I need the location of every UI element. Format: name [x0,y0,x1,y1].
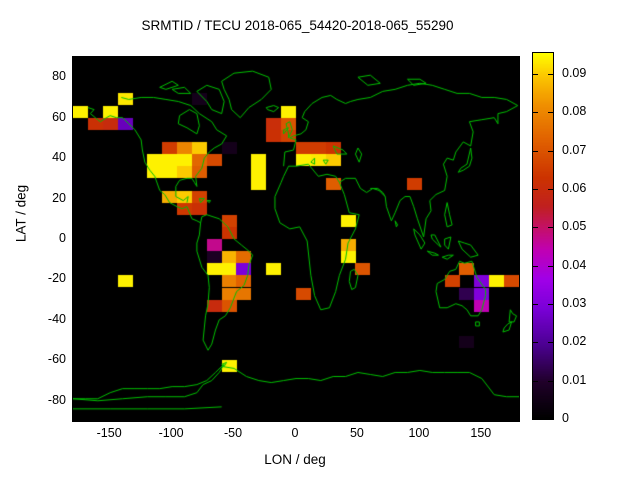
colorbar-tick-label: 0.06 [562,182,622,194]
colorbar-tick-label: 0.08 [562,105,622,117]
x-axis-label: LON / deg [72,452,518,467]
colorbar-tick-label: 0.01 [562,374,622,386]
colorbar-tick-label: 0.09 [562,67,622,79]
x-tick-label: 50 [322,426,392,440]
x-axis-ticks: -150-100-50050100150 [72,426,518,446]
x-tick-label: 100 [384,426,454,440]
colorbar-tick-label: 0 [562,412,622,424]
colorbar-tick-label: 0.03 [562,297,622,309]
x-tick-label: -50 [198,426,268,440]
page-title: SRMTID / TECU 2018-065_54420-2018-065_55… [0,18,595,33]
colorbar-tick-label: 0.04 [562,259,622,271]
colorbar-tick-labels: 00.010.020.030.040.050.060.070.080.09 [0,52,640,418]
colorbar-tick-label: 0.07 [562,144,622,156]
x-tick-label: -150 [74,426,144,440]
colorbar-tick-label: 0.05 [562,220,622,232]
figure-root: SRMTID / TECU 2018-065_54420-2018-065_55… [0,0,640,480]
x-tick-label: 0 [260,426,330,440]
x-tick-label: -100 [136,426,206,440]
colorbar-tick-label: 0.02 [562,335,622,347]
x-tick-label: 150 [446,426,516,440]
